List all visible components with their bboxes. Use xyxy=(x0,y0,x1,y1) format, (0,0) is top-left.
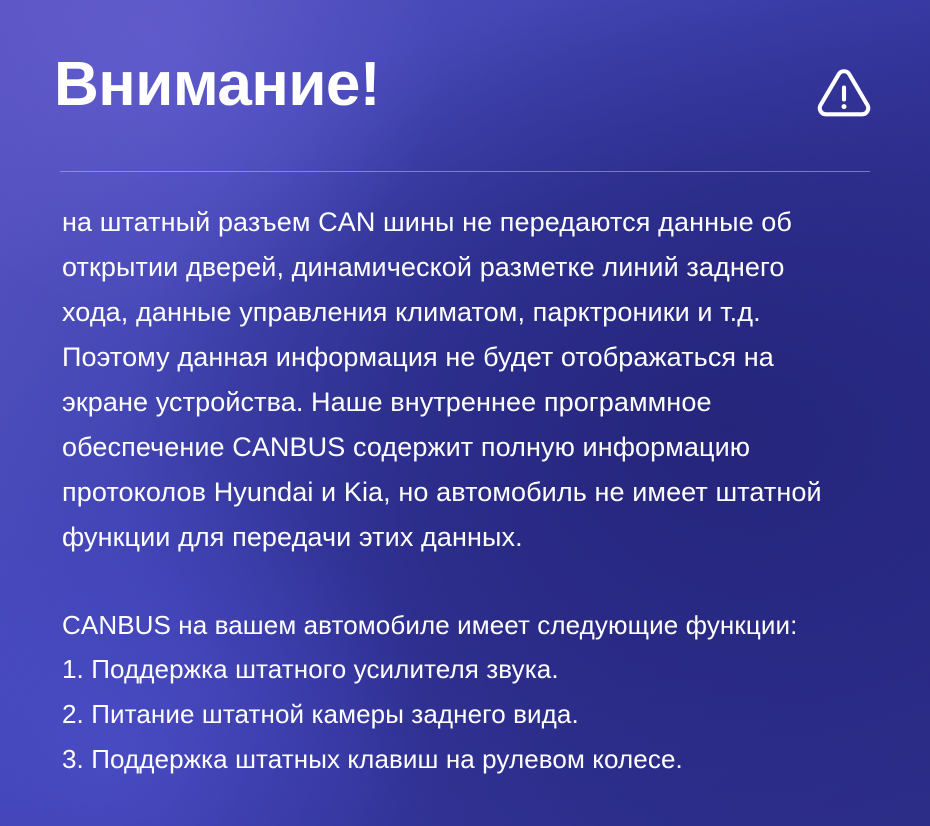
list-item: 2. Питание штатной камеры заднего вида. xyxy=(62,692,892,737)
header-divider xyxy=(60,171,870,172)
page-title: Внимание! xyxy=(54,54,380,116)
paragraph-line: протоколов Hyundai и Kia, но автомобиль … xyxy=(62,470,892,515)
paragraph-line: Поэтому данная информация не будет отобр… xyxy=(62,335,892,380)
paragraph-line: открытии дверей, динамической разметке л… xyxy=(62,245,892,290)
banner-header: Внимание! xyxy=(0,0,930,172)
paragraph-line: на штатный разъем CAN шины не передаются… xyxy=(62,200,892,245)
paragraph-line: обеспечение CANBUS содержит полную инфор… xyxy=(62,425,892,470)
paragraph-line: функции для передачи этих данных. xyxy=(62,515,892,560)
list-item: 3. Поддержка штатных клавиш на рулевом к… xyxy=(62,737,892,782)
warning-banner: Внимание! на штатный разъем CAN шины не … xyxy=(0,0,930,826)
paragraph-line: экране устройства. Наше внутреннее прогр… xyxy=(62,380,892,425)
features-list: 1. Поддержка штатного усилителя звука. 2… xyxy=(62,647,892,782)
banner-content: на штатный разъем CAN шины не передаются… xyxy=(62,200,892,782)
warning-triangle-icon xyxy=(816,68,872,120)
warning-paragraph: на штатный разъем CAN шины не передаются… xyxy=(62,200,892,560)
features-intro: CANBUS на вашем автомобиле имеет следующ… xyxy=(62,603,892,647)
paragraph-line: хода, данные управления климатом, парктр… xyxy=(62,290,892,335)
features-section: CANBUS на вашем автомобиле имеет следующ… xyxy=(62,603,892,782)
list-item: 1. Поддержка штатного усилителя звука. xyxy=(62,647,892,692)
